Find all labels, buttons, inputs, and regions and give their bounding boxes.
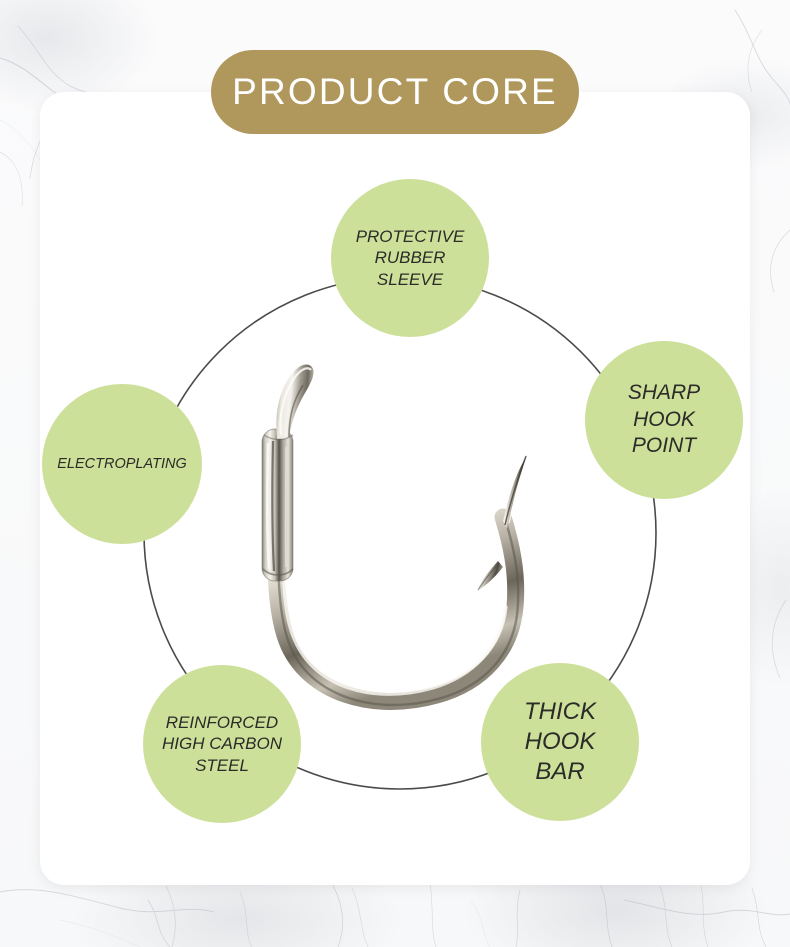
feature-bubble-protective-rubber-sleeve[interactable]: PROTECTIVE RUBBER SLEEVE bbox=[331, 179, 489, 337]
fishing-hook-image bbox=[215, 355, 575, 725]
feature-bubble-reinforced-high-carbon-steel[interactable]: REINFORCED HIGH CARBON STEEL bbox=[143, 665, 301, 823]
feature-label-thick-hook-bar: THICK HOOK BAR bbox=[524, 697, 596, 788]
feature-label-electroplating: ELECTROPLATING bbox=[57, 455, 186, 473]
feature-label-protective-rubber-sleeve: PROTECTIVE RUBBER SLEEVE bbox=[356, 226, 465, 290]
fishing-hook-illustration bbox=[215, 355, 575, 725]
feature-bubble-electroplating[interactable]: ELECTROPLATING bbox=[42, 384, 202, 544]
feature-bubble-thick-hook-bar[interactable]: THICK HOOK BAR bbox=[481, 663, 639, 821]
feature-label-reinforced-high-carbon-steel: REINFORCED HIGH CARBON STEEL bbox=[162, 712, 282, 776]
feature-bubble-sharp-hook-point[interactable]: SHARP HOOK POINT bbox=[585, 341, 743, 499]
feature-label-sharp-hook-point: SHARP HOOK POINT bbox=[628, 380, 700, 459]
page-title-banner: PRODUCT CORE bbox=[211, 50, 579, 134]
page-title: PRODUCT CORE bbox=[232, 71, 558, 113]
